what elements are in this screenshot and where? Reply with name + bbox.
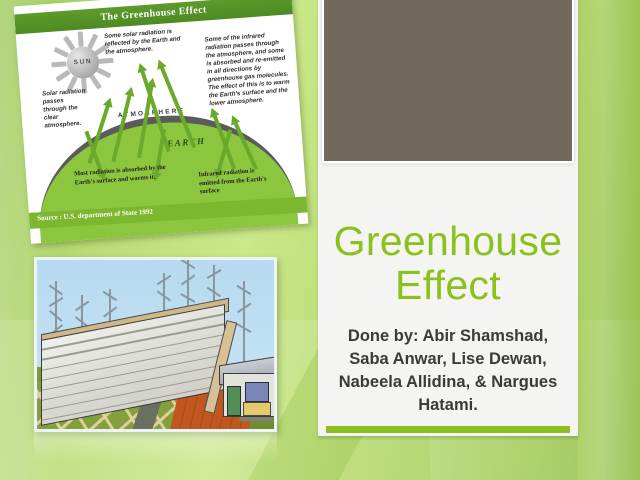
greenhouse-effect-diagram[interactable]: The Greenhouse Effect ATMOSPHERE EARTH S… — [14, 0, 309, 244]
page-title: Greenhouse Effect — [322, 219, 574, 307]
placeholder-underline — [322, 163, 574, 168]
diagram-text-infrared: Some of the infrared radiation passes th… — [204, 31, 291, 109]
sun-label: SUN — [66, 45, 100, 79]
accent-bar — [326, 426, 570, 433]
content-panel-shadow — [318, 436, 578, 441]
photo-reflection — [34, 432, 277, 462]
annex-window — [245, 382, 269, 402]
sun-icon: SUN — [66, 45, 100, 79]
title-line-1: Greenhouse — [322, 219, 574, 263]
diagram-text-emitted: Infrared radiation is emitted from the E… — [198, 166, 272, 197]
title-line-2: Effect — [322, 263, 574, 307]
diagram-text-clear-sky: Solar radiation passes through the clear… — [42, 87, 89, 130]
crate — [243, 402, 271, 416]
presentation-slide: Greenhouse Effect Done by: Abir Shamshad… — [0, 0, 640, 480]
missing-image-placeholder[interactable] — [322, 0, 574, 163]
placeholder-fill — [324, 0, 572, 161]
authors-subtitle: Done by: Abir Shamshad, Saba Anwar, Lise… — [330, 325, 566, 417]
annex-door — [227, 386, 241, 416]
diagram-text-reflected: Some solar radiation is reflected by the… — [104, 27, 192, 57]
background-sheen-right — [578, 0, 640, 480]
greenhouse-photo[interactable] — [34, 257, 277, 432]
